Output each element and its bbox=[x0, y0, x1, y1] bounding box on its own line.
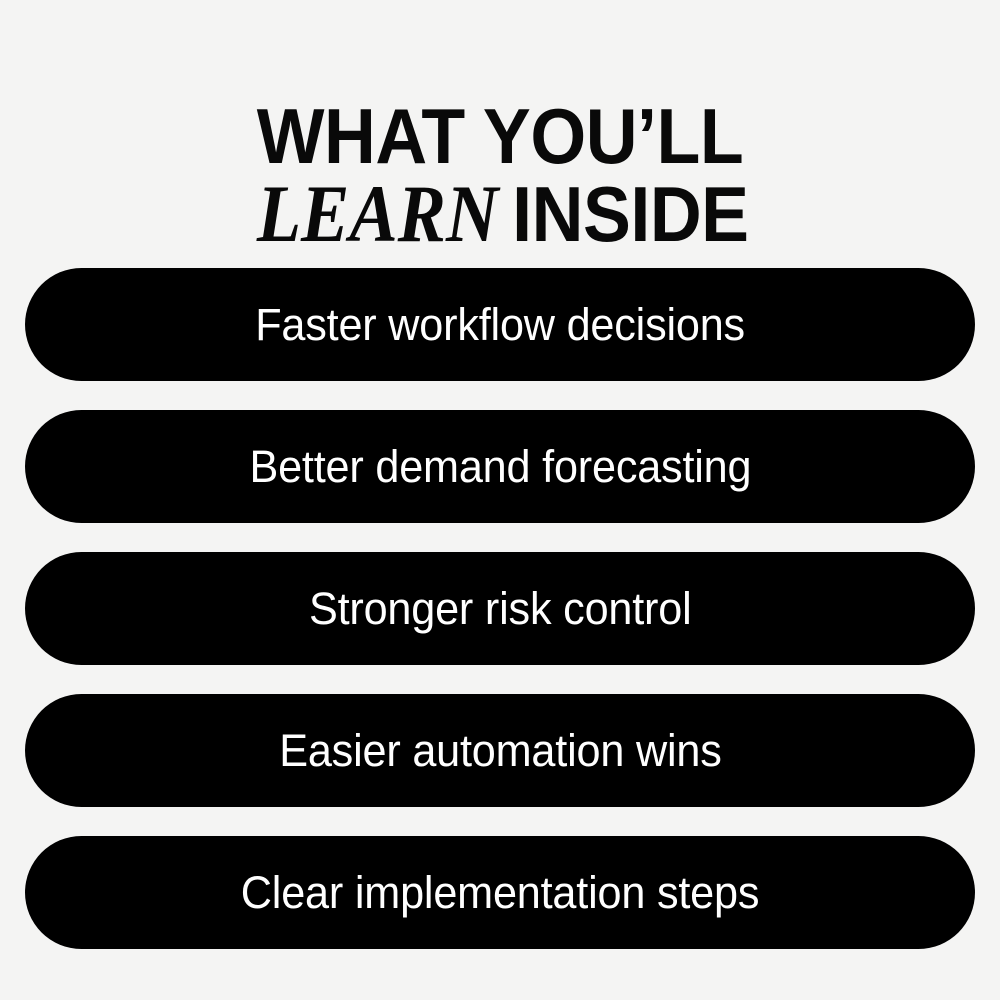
benefit-pill-label: Stronger risk control bbox=[309, 583, 692, 635]
benefit-pill-label: Better demand forecasting bbox=[249, 441, 751, 493]
benefit-pill-label: Clear implementation steps bbox=[241, 867, 759, 919]
benefit-pill-4[interactable]: Easier automation wins bbox=[25, 694, 975, 807]
benefit-pill-label: Faster workflow decisions bbox=[255, 299, 745, 351]
benefit-pill-3[interactable]: Stronger risk control bbox=[25, 552, 975, 665]
benefit-pill-1[interactable]: Faster workflow decisions bbox=[25, 268, 975, 381]
benefits-list: Faster workflow decisions Better demand … bbox=[25, 268, 975, 949]
benefit-pill-5[interactable]: Clear implementation steps bbox=[25, 836, 975, 949]
poster-canvas: WHAT YOU’LL LEARNINSIDE Faster workflow … bbox=[0, 0, 1000, 1000]
benefit-pill-2[interactable]: Better demand forecasting bbox=[25, 410, 975, 523]
page-title: WHAT YOU’LL LEARNINSIDE bbox=[0, 100, 1000, 250]
headline-line-1: WHAT YOU’LL bbox=[40, 100, 960, 172]
benefit-pill-label: Easier automation wins bbox=[279, 725, 721, 777]
headline-emphasis-word: LEARN bbox=[257, 178, 507, 250]
headline-line-2: LEARNINSIDE bbox=[40, 178, 960, 250]
headline-line-2-rest: INSIDE bbox=[512, 170, 748, 258]
